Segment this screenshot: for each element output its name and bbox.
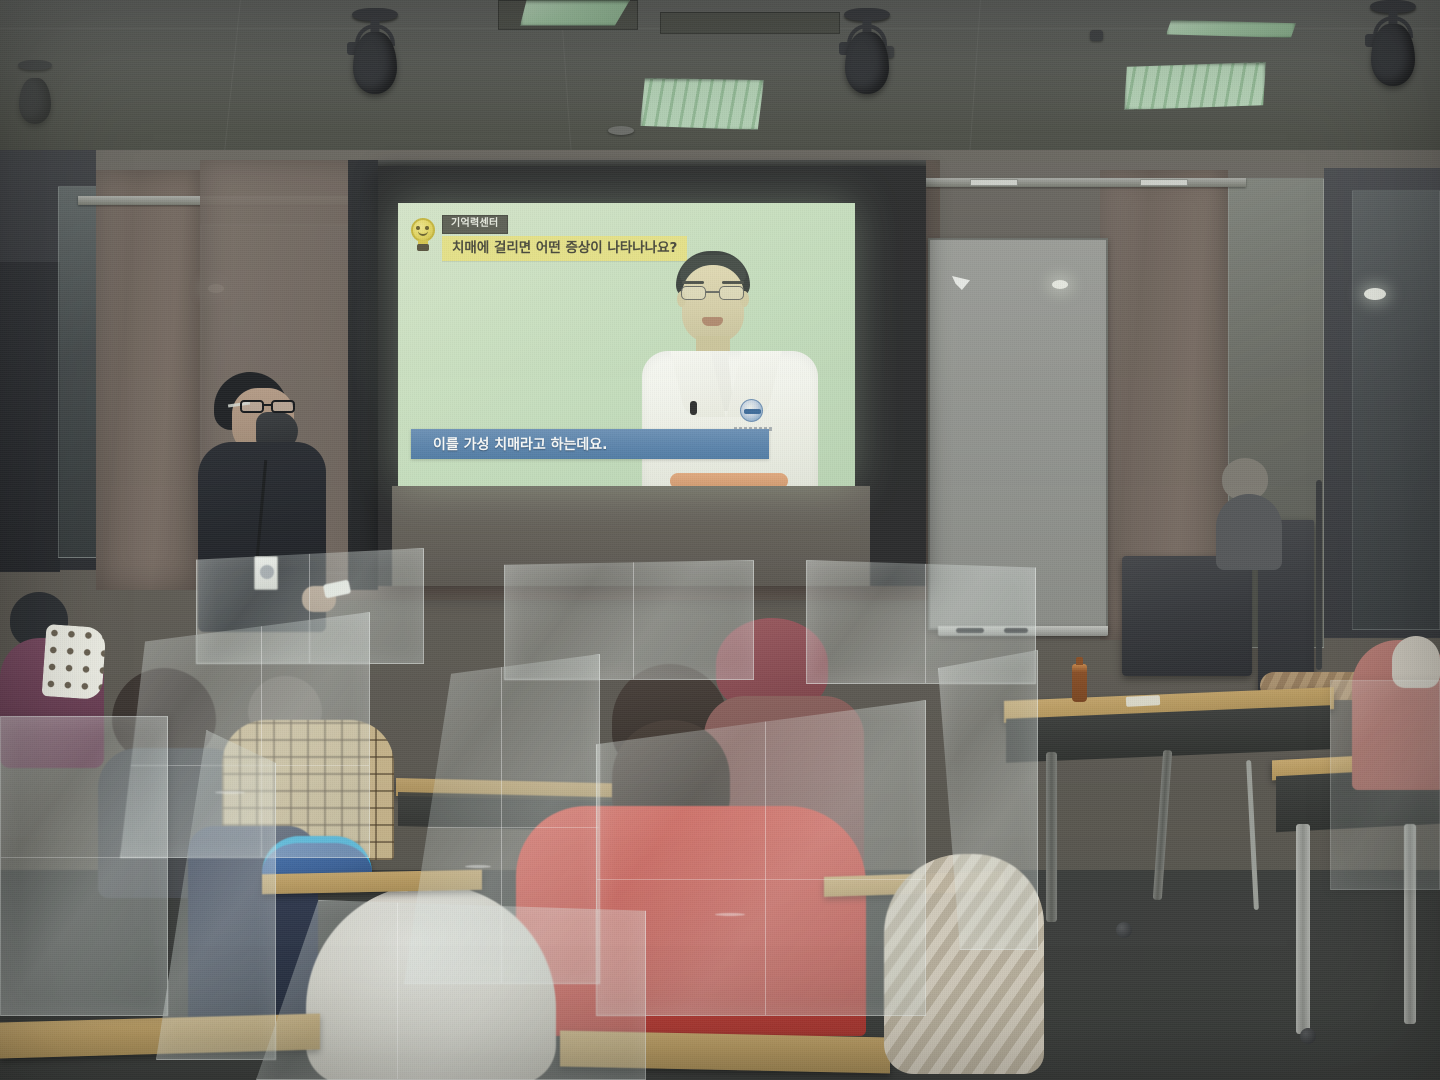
stacked-chairs-right: [1122, 556, 1252, 676]
hospital-emblem-badge: [740, 399, 763, 422]
ceiling-rail-right: [926, 178, 1246, 187]
wall-light-far-right: [1364, 288, 1386, 300]
wood-column-left: [96, 170, 200, 590]
spotlight-1: [330, 8, 420, 118]
ceiling-vent-left: [520, 0, 630, 26]
rail-tab-2: [1140, 179, 1188, 186]
brown-bottle[interactable]: [1072, 664, 1087, 702]
presenter-eyeglasses: [240, 400, 298, 414]
table-leg-rear-right-a: [1046, 752, 1057, 922]
wall-light-right: [1052, 280, 1068, 289]
ceiling-vent-right: [1124, 62, 1266, 110]
doctor-hands: [670, 473, 788, 486]
table-caster-rear-right: [1116, 922, 1132, 938]
subtitle-bar: 이를 가성 치매라고 하는데요.: [411, 429, 769, 459]
whiteboard-glare: [952, 276, 970, 290]
smoke-detector-3: [1090, 30, 1103, 41]
smoke-detector: [608, 126, 634, 135]
ceiling-vent-far-right: [1166, 20, 1296, 38]
table-leg-front-right-a: [1296, 824, 1310, 1034]
doctor-white-coat: [642, 351, 818, 486]
lapel-microphone: [690, 401, 697, 415]
ceiling-vent-center: [640, 78, 764, 130]
spotlight-4: [0, 60, 70, 150]
chair-post-right: [1316, 480, 1322, 670]
doctor-brow-right: [722, 281, 744, 284]
lightbulb-face-icon: [410, 218, 436, 252]
spotlight-2: [822, 8, 912, 118]
glass-partition-far-right: [1352, 190, 1440, 630]
attendee-body: [1216, 494, 1282, 570]
acrylic-divider-far-right: [1330, 680, 1440, 890]
rail-tab-1: [970, 179, 1018, 186]
acrylic-divider-mid-left-2: [0, 716, 168, 1016]
doctor-face: [682, 265, 744, 343]
doctor-brow-left: [682, 281, 704, 284]
paper-scrap: [1126, 695, 1160, 707]
slide-badge-label: 기억력센터: [442, 215, 508, 234]
table-caster-front-right: [1300, 1028, 1316, 1044]
subtitle-text: 이를 가성 치매라고 하는데요.: [411, 434, 608, 454]
ceiling: [0, 0, 1440, 175]
doctor-mouth: [702, 317, 723, 326]
polka-dot-cloth: [42, 624, 107, 700]
doctor-eyeglasses: [679, 286, 747, 300]
acrylic-divider-foreground: [256, 900, 646, 1080]
classroom-scene: 기억력센터 치매에 걸리면 어떤 증상이 나타나나요?: [0, 0, 1440, 1080]
wall-panel-left-dark-2: [0, 262, 60, 572]
spotlight-3: [1348, 0, 1438, 110]
projected-slide: 기억력센터 치매에 걸리면 어떤 증상이 나타나나요?: [398, 203, 855, 486]
